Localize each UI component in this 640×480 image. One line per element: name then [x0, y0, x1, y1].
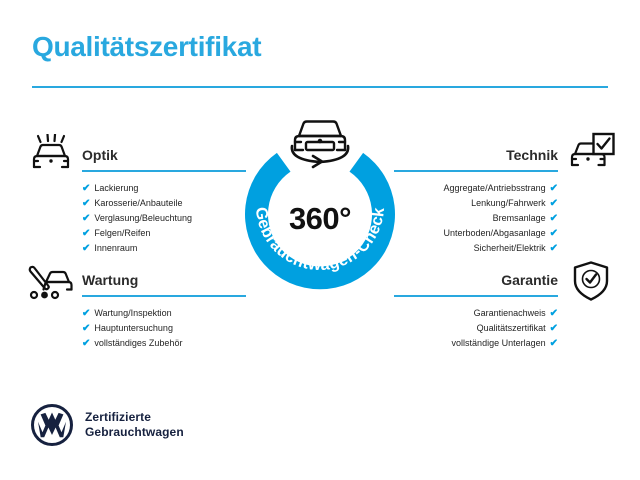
title-divider: [32, 86, 608, 88]
section-technik-header: Technik: [394, 146, 558, 172]
section-optik-underline: [82, 170, 246, 172]
section-wartung-header: Wartung: [82, 271, 246, 297]
certificate-page: Qualitätszertifikat Optik: [0, 0, 640, 480]
list-item-label: Sicherheit/Elektrik: [474, 241, 546, 256]
shield-check-icon: [571, 260, 611, 307]
check-icon: ✔: [550, 184, 558, 194]
check-icon: ✔: [550, 309, 558, 319]
car-checkbox-icon: [566, 131, 616, 179]
check-icon: ✔: [550, 199, 558, 209]
section-technik-title: Technik: [394, 146, 558, 164]
list-item-label: Innenraum: [94, 241, 137, 256]
page-title: Qualitätszertifikat: [32, 31, 261, 63]
check-icon: ✔: [82, 309, 90, 319]
check-icon: ✔: [550, 229, 558, 239]
vw-logo: [31, 404, 73, 446]
section-optik-header: Optik: [82, 146, 246, 172]
section-garantie-list: Garantienachweis ✔ Qualitätszertifikat ✔…: [394, 306, 558, 351]
list-item: Bremsanlage ✔: [394, 211, 558, 226]
section-wartung-underline: [82, 295, 246, 297]
list-item-label: Karosserie/Anbauteile: [94, 196, 182, 211]
check-icon: ✔: [550, 214, 558, 224]
list-item-label: vollständige Unterlagen: [452, 336, 546, 351]
list-item: ✔ Karosserie/Anbauteile: [82, 196, 246, 211]
check-icon: ✔: [82, 184, 90, 194]
check-icon: ✔: [82, 339, 90, 349]
check-icon: ✔: [82, 324, 90, 334]
car-wrench-icon: [26, 261, 74, 306]
check-icon: ✔: [82, 214, 90, 224]
list-item-label: Hauptuntersuchung: [94, 321, 173, 336]
check-icon: ✔: [550, 244, 558, 254]
list-item-label: Lackierung: [94, 181, 138, 196]
360-check-badge: Gebrauchtwagen-Check 360°: [232, 118, 408, 294]
list-item: ✔ Felgen/Reifen: [82, 226, 246, 241]
check-icon: ✔: [82, 229, 90, 239]
section-technik-underline: [394, 170, 558, 172]
section-garantie-title: Garantie: [394, 271, 558, 289]
list-item: ✔ Innenraum: [82, 241, 246, 256]
list-item: Aggregate/Antriebsstrang ✔: [394, 181, 558, 196]
list-item: ✔ vollständiges Zubehör: [82, 336, 246, 351]
list-item: ✔ Wartung/Inspektion: [82, 306, 246, 321]
section-garantie-header: Garantie: [394, 271, 558, 297]
list-item-label: Unterboden/Abgasanlage: [444, 226, 546, 241]
vw-brand-line1: Zertifizierte: [85, 410, 184, 425]
section-wartung: Wartung ✔ Wartung/Inspektion ✔ Hauptunte…: [82, 271, 246, 351]
car-shine-icon: [28, 134, 74, 179]
list-item: Garantienachweis ✔: [394, 306, 558, 321]
list-item-label: vollständiges Zubehör: [94, 336, 182, 351]
section-optik-list: ✔ Lackierung ✔ Karosserie/Anbauteile ✔ V…: [82, 181, 246, 256]
section-technik-list: Aggregate/Antriebsstrang ✔ Lenkung/Fahrw…: [394, 181, 558, 256]
list-item: ✔ Verglasung/Beleuchtung: [82, 211, 246, 226]
vw-brand-line2: Gebrauchtwagen: [85, 425, 184, 440]
section-technik: Technik Aggregate/Antriebsstrang ✔ Lenku…: [394, 146, 558, 256]
section-optik: Optik ✔ Lackierung ✔ Karosserie/Anbautei…: [82, 146, 246, 256]
section-garantie-underline: [394, 295, 558, 297]
list-item: Qualitätszertifikat ✔: [394, 321, 558, 336]
list-item-label: Aggregate/Antriebsstrang: [444, 181, 546, 196]
list-item-label: Bremsanlage: [493, 211, 546, 226]
list-item: ✔ Lackierung: [82, 181, 246, 196]
list-item-label: Wartung/Inspektion: [94, 306, 171, 321]
check-icon: ✔: [82, 244, 90, 254]
list-item-label: Qualitätszertifikat: [477, 321, 546, 336]
section-wartung-list: ✔ Wartung/Inspektion ✔ Hauptuntersuchung…: [82, 306, 246, 351]
list-item-label: Garantienachweis: [474, 306, 546, 321]
check-icon: ✔: [550, 324, 558, 334]
section-garantie: Garantie Garantienachweis ✔ Qualitätszer…: [394, 271, 558, 351]
list-item: ✔ Hauptuntersuchung: [82, 321, 246, 336]
list-item: Sicherheit/Elektrik ✔: [394, 241, 558, 256]
check-icon: ✔: [82, 199, 90, 209]
list-item: Lenkung/Fahrwerk ✔: [394, 196, 558, 211]
list-item-label: Felgen/Reifen: [94, 226, 150, 241]
car-rotation-icon: [280, 112, 360, 174]
vw-footer-brand: Zertifizierte Gebrauchtwagen: [31, 404, 184, 446]
check-icon: ✔: [550, 339, 558, 349]
vw-brand-text: Zertifizierte Gebrauchtwagen: [85, 410, 184, 440]
list-item: Unterboden/Abgasanlage ✔: [394, 226, 558, 241]
section-wartung-title: Wartung: [82, 271, 246, 289]
list-item-label: Verglasung/Beleuchtung: [94, 211, 192, 226]
list-item-label: Lenkung/Fahrwerk: [471, 196, 546, 211]
list-item: vollständige Unterlagen ✔: [394, 336, 558, 351]
section-optik-title: Optik: [82, 146, 246, 164]
